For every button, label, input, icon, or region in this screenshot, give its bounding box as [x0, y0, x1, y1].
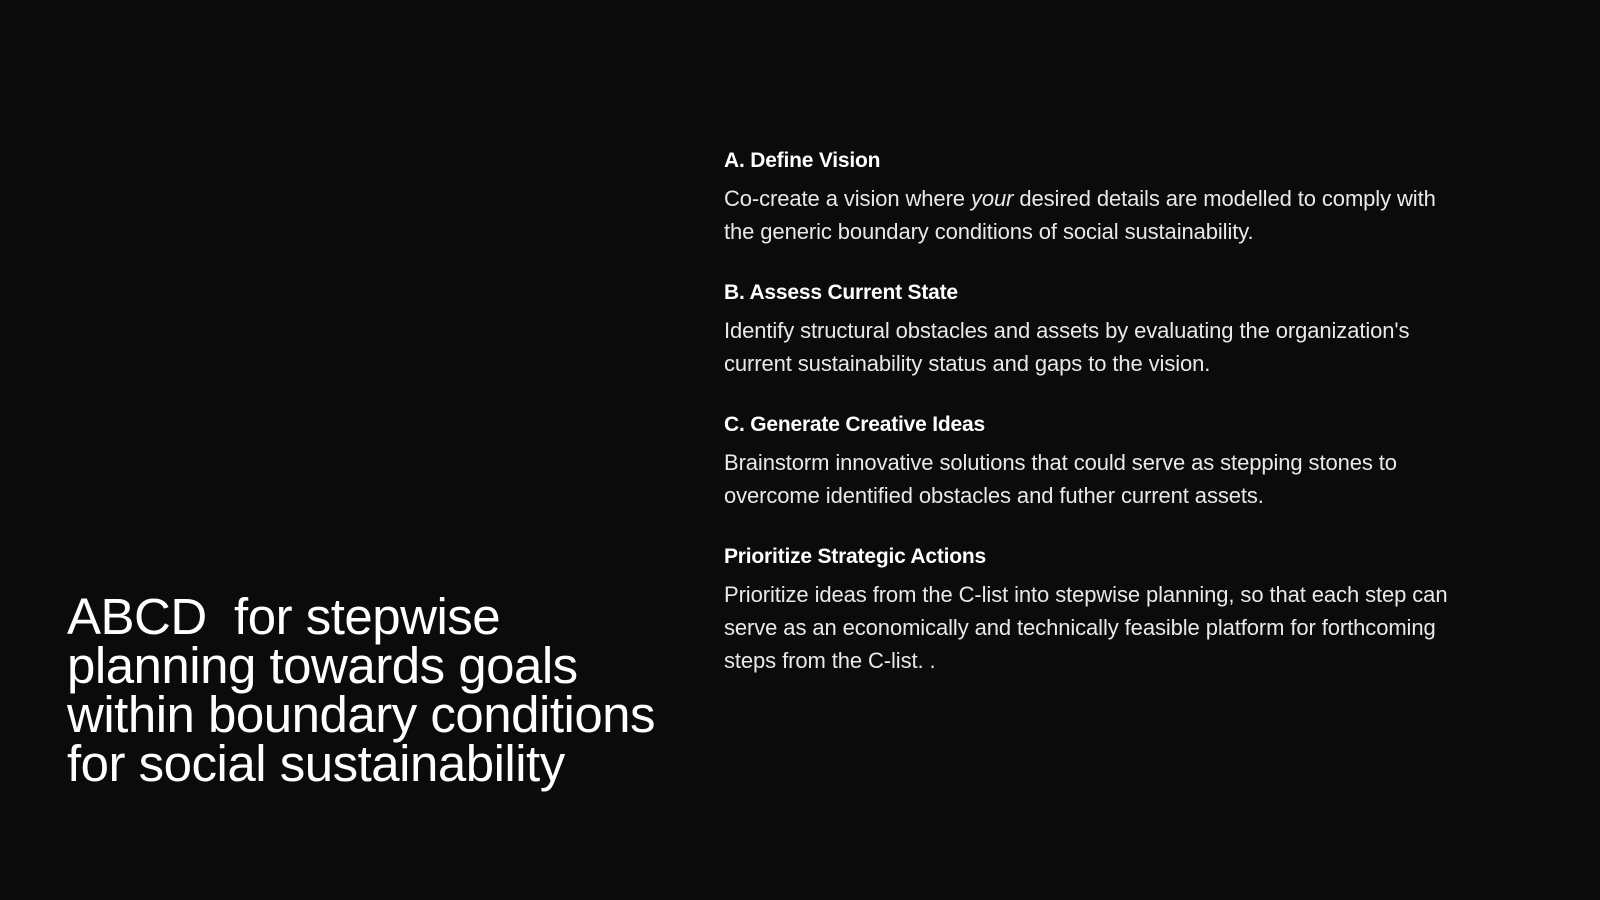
step-heading-d: Prioritize Strategic Actions [724, 544, 1454, 570]
step-body-a-part1: Co-create a vision where [724, 186, 971, 211]
step-heading-a: A. Define Vision [724, 148, 1454, 174]
step-heading-b: B. Assess Current State [724, 280, 1454, 306]
title-block: ABCD for stepwise planning towards goals… [67, 592, 667, 788]
steps-list: A. Define Vision Co-create a vision wher… [724, 148, 1454, 677]
step-block-b: B. Assess Current State Identify structu… [724, 280, 1454, 380]
step-body-d: Prioritize ideas from the C-list into st… [724, 578, 1449, 677]
step-block-d: Prioritize Strategic Actions Prioritize … [724, 544, 1454, 677]
step-block-a: A. Define Vision Co-create a vision wher… [724, 148, 1454, 248]
page-title: ABCD for stepwise planning towards goals… [67, 592, 667, 788]
slide-canvas: ABCD for stepwise planning towards goals… [0, 0, 1600, 900]
step-body-c: Brainstorm innovative solutions that cou… [724, 446, 1449, 512]
step-heading-c: C. Generate Creative Ideas [724, 412, 1454, 438]
step-body-a-emphasis: your [971, 186, 1013, 211]
step-block-c: C. Generate Creative Ideas Brainstorm in… [724, 412, 1454, 512]
step-body-a: Co-create a vision where your desired de… [724, 182, 1449, 248]
step-body-b: Identify structural obstacles and assets… [724, 314, 1449, 380]
